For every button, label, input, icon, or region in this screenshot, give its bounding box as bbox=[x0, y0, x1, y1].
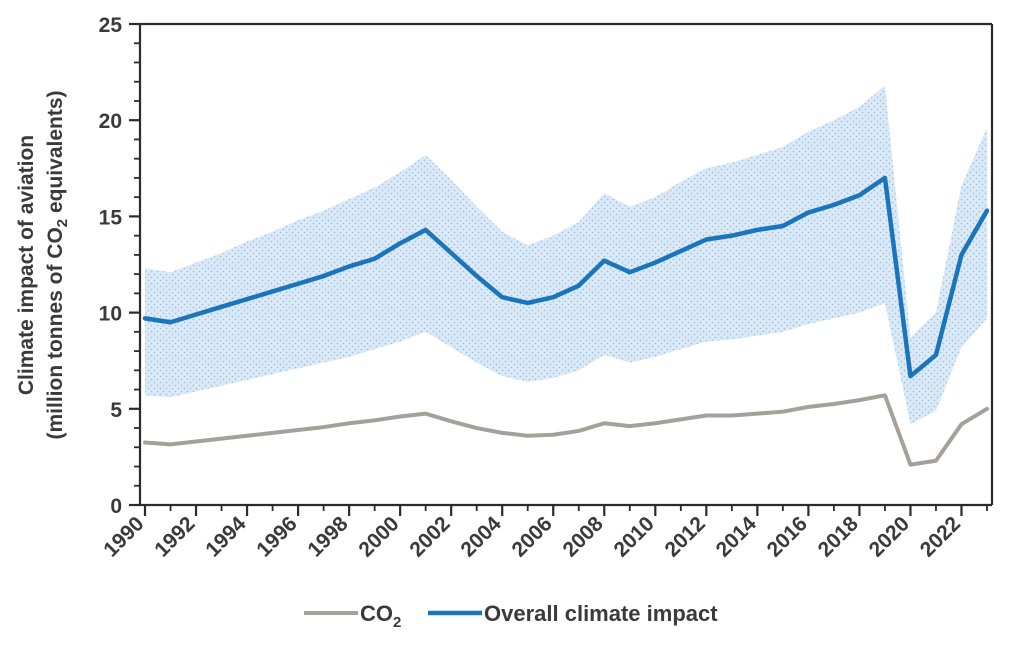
y-tick-label-20: 20 bbox=[99, 110, 122, 133]
y-axis-title-line2-end: equivalents) bbox=[44, 90, 67, 218]
climate-impact-line-chart: 0510152025 19901992199419961998200020022… bbox=[0, 0, 1024, 651]
chart-container: 0510152025 19901992199419961998200020022… bbox=[0, 0, 1024, 651]
legend-label-co2-text: CO bbox=[360, 601, 393, 626]
y-tick-label-5: 5 bbox=[110, 399, 122, 422]
y-axis-title-line2-main: (million tonnes of CO bbox=[44, 227, 67, 439]
y-tick-label-0: 0 bbox=[110, 495, 122, 518]
legend-label-co2-subscript: 2 bbox=[393, 614, 401, 631]
y-tick-label-25: 25 bbox=[99, 14, 123, 37]
y-tick-label-15: 15 bbox=[99, 206, 123, 229]
y-axis-title-subscript: 2 bbox=[54, 219, 71, 227]
y-tick-label-10: 10 bbox=[99, 303, 122, 326]
y-axis-title-line1: Climate impact of aviation bbox=[15, 135, 38, 395]
y-axis-title-line2: (million tonnes of CO2 equivalents) bbox=[44, 90, 71, 439]
legend-label-overall-climate-impact: Overall climate impact bbox=[484, 601, 718, 626]
